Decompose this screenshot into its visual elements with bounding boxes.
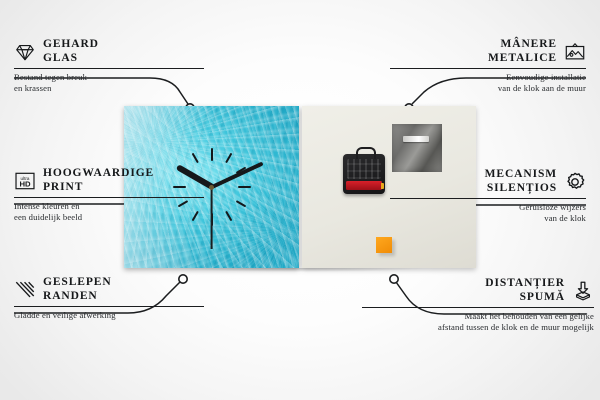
metal-hanger [392, 124, 442, 172]
divider [362, 307, 594, 308]
feature-header: DISTANȚIER SPUMĂ [362, 277, 594, 304]
divider [390, 198, 586, 199]
svg-text:HD: HD [19, 179, 31, 188]
divider [14, 68, 204, 69]
bevelled-edge-icon [14, 279, 36, 301]
feature-header: ultra HD HOOGWAARDIGE PRINT [14, 167, 204, 194]
feature-geslepen-randen: GESLEPEN RANDEN Gladde en veilige afwerk… [14, 276, 204, 321]
feature-title: GESLEPEN RANDEN [43, 276, 112, 303]
feature-header: MECANISM SILENȚIOS [390, 168, 586, 195]
infographic-canvas: GEHARD GLAS Bestand tegen breuk en krass… [0, 0, 600, 400]
feature-distantier-spuma: DISTANȚIER SPUMĂ Maakt het behouden van … [362, 277, 594, 333]
clock-mechanism [343, 154, 385, 194]
feature-title: MECANISM SILENȚIOS [485, 168, 557, 195]
feature-description: Geruisloze wijzers van de klok [390, 202, 586, 223]
divider [14, 197, 204, 198]
feature-gehard-glas: GEHARD GLAS Bestand tegen breuk en krass… [14, 38, 204, 94]
feature-description: Gladde en veilige afwerking [14, 310, 204, 321]
feature-header: GESLEPEN RANDEN [14, 276, 204, 303]
feature-manere-metalice: MÂNERE METALICE Eenvoudige installatie v… [390, 38, 586, 94]
feature-description: Eenvoudige installatie van de klok aan d… [390, 72, 586, 93]
feature-header: MÂNERE METALICE [390, 38, 586, 65]
feature-title: MÂNERE METALICE [488, 38, 557, 65]
feature-mecanism-silentios: MECANISM SILENȚIOS Geruisloze wijzers va… [390, 168, 586, 224]
foam-spacer [376, 237, 392, 253]
feature-title: GEHARD GLAS [43, 38, 99, 65]
feature-description: Maakt het behouden van een gelijke afsta… [362, 311, 594, 332]
hanger-slot [403, 136, 429, 142]
picture-frame-icon [564, 41, 586, 63]
press-down-spacer-icon [572, 280, 594, 302]
feature-description: Intense kleuren en een duidelijk beeld [14, 201, 204, 222]
divider [14, 306, 204, 307]
mechanism-loop [356, 147, 376, 159]
gear-icon [564, 171, 586, 193]
feature-title: DISTANȚIER SPUMĂ [485, 277, 565, 304]
feature-header: GEHARD GLAS [14, 38, 204, 65]
clock-center-cap [209, 185, 214, 190]
feature-description: Bestand tegen breuk en krassen [14, 72, 204, 93]
divider [390, 68, 586, 69]
mechanism-detail [347, 159, 381, 179]
diamond-icon [14, 41, 36, 63]
battery [346, 181, 382, 190]
ultra-hd-icon: ultra HD [14, 170, 36, 192]
feature-hoogwaardige-print: ultra HD HOOGWAARDIGE PRINT Intense kleu… [14, 167, 204, 223]
feature-title: HOOGWAARDIGE PRINT [43, 167, 154, 194]
second-hand [211, 187, 213, 249]
